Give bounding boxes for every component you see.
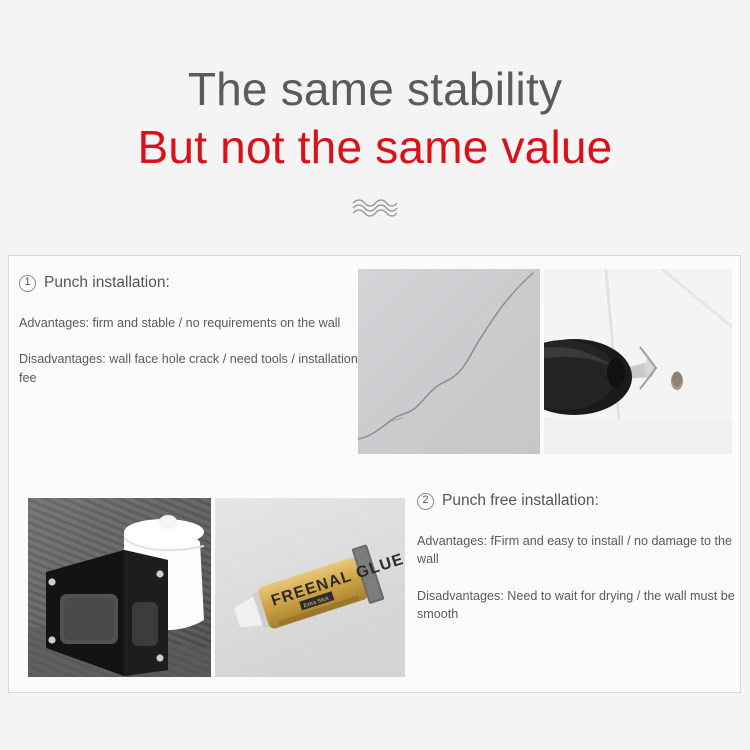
black-holder-photo [28,498,211,677]
promo-page: The same stability But not the same valu… [0,0,750,750]
wave-divider-icon [352,198,398,218]
section-1-title: 1 Punch installation: [19,274,359,292]
section-row-punch: 1 Punch installation: Advantages: firm a… [9,256,742,474]
section-2-disadvantages: Disadvantages: Need to wait for drying /… [417,587,735,624]
section-row-punch-free: FREENAL GLUE Extra Stick 2 Punch free in… [9,474,742,692]
drill-on-tile-photo [544,269,732,454]
glue-tube-image: FREENAL GLUE Extra Stick [215,498,405,677]
black-holder-image [28,498,211,677]
cracked-wall-image [358,269,540,454]
section-2-advantages: Advantages: fFirm and easy to install / … [417,532,735,569]
content-panel: 1 Punch installation: Advantages: firm a… [8,255,741,693]
section-1-text: 1 Punch installation: Advantages: firm a… [19,274,359,387]
wave-divider [0,198,750,218]
section-1-advantages: Advantages: firm and stable / no require… [19,314,359,332]
section-2-number-badge: 2 [417,493,434,510]
cracked-wall-photo [358,269,540,454]
section-2-title-label: Punch free installation: [442,492,599,510]
section-2-title: 2 Punch free installation: [417,492,735,510]
glue-tube-photo: FREENAL GLUE Extra Stick [215,498,405,677]
headline-secondary: But not the same value [0,120,750,174]
section-1-disadvantages: Disadvantages: wall face hole crack / ne… [19,350,359,387]
drill-on-tile-image [544,269,732,454]
section-1-title-label: Punch installation: [44,274,170,292]
section-2-text: 2 Punch free installation: Advantages: f… [417,492,735,623]
section-1-number-badge: 1 [19,275,36,292]
header: The same stability But not the same valu… [0,62,750,175]
headline-primary: The same stability [0,62,750,116]
